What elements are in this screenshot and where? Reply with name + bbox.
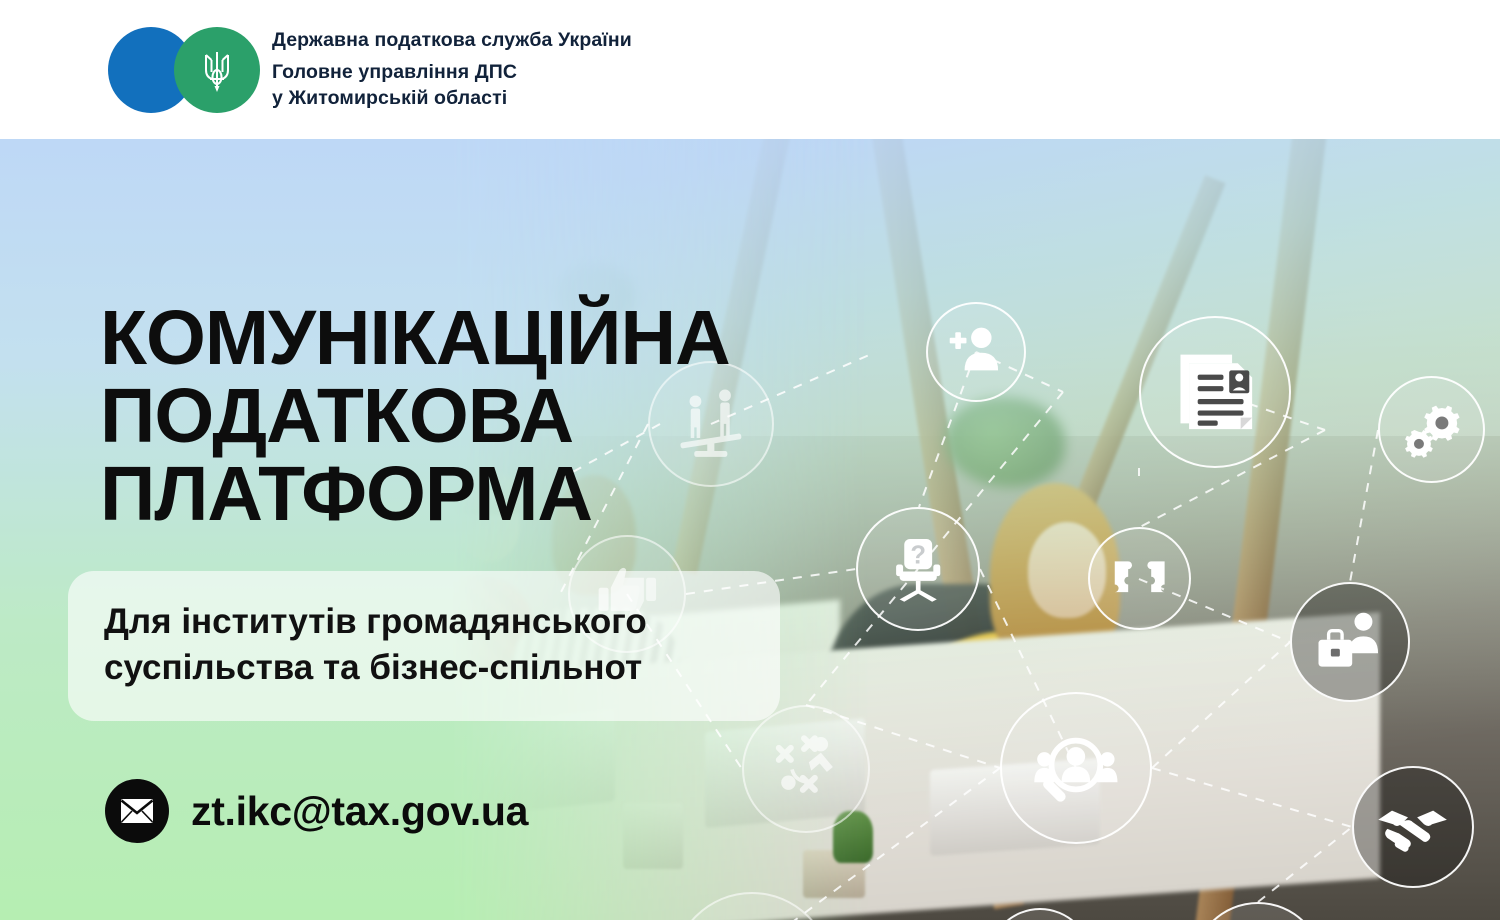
resume-document-icon	[1139, 316, 1291, 468]
gears-icon	[1378, 376, 1485, 483]
org-line-2: Головне управління ДПС	[272, 59, 632, 86]
contact-email-text[interactable]: zt.ikc@tax.gov.ua	[191, 788, 528, 835]
org-line-1: Державна податкова служба України	[272, 27, 632, 54]
office-chair-question-icon: ?	[856, 507, 980, 631]
handshake-icon	[1352, 766, 1474, 888]
envelope-icon	[105, 779, 169, 843]
strategy-network-icon	[742, 705, 870, 833]
balance-scale-people-icon	[648, 361, 774, 487]
org-line-3: у Житомирській області	[272, 85, 632, 112]
site-header: Державна податкова служба України Головн…	[0, 0, 1500, 139]
poster-canvas: Державна податкова служба України Головн…	[0, 0, 1500, 920]
ukraine-trident-icon	[200, 46, 234, 94]
envelope-glyph	[120, 798, 154, 824]
logo-green-circle	[174, 27, 260, 113]
contact-email-row[interactable]: zt.ikc@tax.gov.ua	[105, 779, 528, 843]
briefcase-businessman-icon	[1290, 582, 1410, 702]
add-user-icon	[926, 302, 1026, 402]
search-people-icon	[1000, 692, 1152, 844]
puzzle-pieces-icon	[1088, 527, 1191, 630]
agency-name-block: Державна податкова служба України Головн…	[272, 27, 632, 112]
thumbs-up-down-icon	[568, 535, 686, 653]
agency-logo	[108, 27, 260, 113]
svg-text:?: ?	[910, 541, 926, 569]
